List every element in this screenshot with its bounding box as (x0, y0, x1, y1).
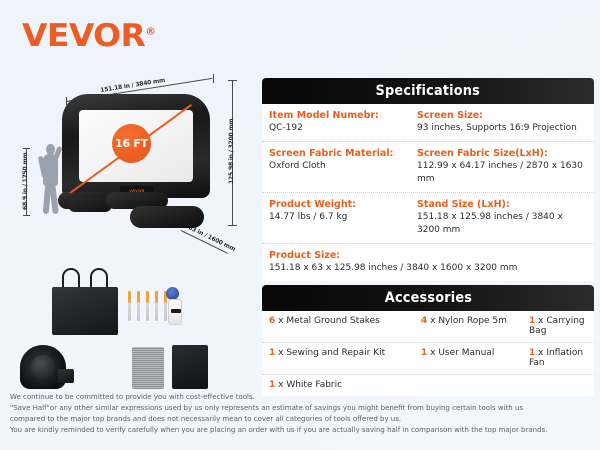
specifications-body: Item Model Numebr: QC-192 Screen Size: 9… (262, 104, 594, 281)
width-dimension-label: 151.18 in / 3840 mm (100, 77, 166, 94)
spec-cell: Screen Fabric Material: Oxford Cloth (269, 147, 417, 186)
spec-value: Oxford Cloth (269, 160, 417, 173)
accessory-sep: x (427, 316, 438, 326)
registered-mark: ® (145, 27, 155, 38)
accessory-item: 1 x Carrying Bag (529, 316, 587, 336)
height-dimension-label: 125.98 in / 3200 mm (228, 119, 235, 184)
accessory-name: Metal Ground Stakes (286, 316, 380, 326)
product-spec-page: VEVOR® 151.18 in / 3840 mm 125.98 in / 3… (0, 0, 600, 450)
accessory-sep: x (427, 348, 438, 358)
accessories-title: Accessories (384, 290, 471, 306)
spec-row: Product Size: 151.18 x 63 x 125.98 inche… (262, 244, 594, 281)
accessory-name: White Fabric (286, 380, 342, 390)
spec-value: 151.18 x 63 x 125.98 inches / 3840 x 160… (269, 262, 587, 275)
carrying-bag-handle-left (62, 268, 80, 288)
white-fabric-photo (172, 345, 208, 389)
spec-label: Stand Size (LxH): (417, 198, 587, 211)
person-tick-bottom (23, 215, 30, 216)
specifications-title: Specifications (376, 83, 480, 99)
accessory-item: 4 x Nylon Rope 5m (421, 316, 529, 336)
spec-row: Item Model Numebr: QC-192 Screen Size: 9… (262, 104, 594, 142)
accessory-sep: x (275, 348, 286, 358)
specifications-header: Specifications (262, 78, 594, 104)
spec-cell: Stand Size (LxH): 151.18 x 125.98 inches… (417, 198, 587, 237)
carrying-bag-handle-right (90, 268, 108, 288)
disclaimer-text: We continue to be committed to provide y… (10, 392, 594, 436)
inflatable-screen: 16 FT VEVOR (62, 94, 217, 234)
manual-label-bar (171, 309, 181, 313)
accessory-sep: x (535, 348, 546, 358)
spec-label: Screen Fabric Size(LxH): (417, 147, 587, 160)
accessory-item: 1 x Sewing and Repair Kit (269, 348, 421, 368)
spec-value: 93 inches, Supports 16:9 Projection (417, 122, 587, 135)
accessory-sep: x (535, 316, 546, 326)
size-badge: 16 FT (112, 124, 151, 163)
ground-stake-3 (146, 291, 149, 321)
disclaimer-line-2: "Save Half"or any other similar expressi… (10, 403, 594, 414)
user-manual-photo (168, 299, 182, 325)
spec-label: Screen Fabric Material: (269, 147, 417, 160)
spec-label: Product Size: (269, 249, 587, 262)
person-tick-top (23, 148, 30, 149)
accessory-name: Sewing and Repair Kit (286, 348, 385, 358)
accessory-item: 6 x Metal Ground Stakes (269, 316, 421, 336)
spec-row: Screen Fabric Material: Oxford Cloth Scr… (262, 142, 594, 193)
ground-stake-2 (137, 291, 140, 321)
accessory-item: 1 x User Manual (421, 348, 529, 368)
spec-label: Product Weight: (269, 198, 417, 211)
brand-name: VEVOR (22, 18, 145, 54)
info-panel: Specifications Item Model Numebr: QC-192… (262, 78, 594, 396)
spec-value: QC-192 (269, 122, 417, 135)
screen-base-right (130, 206, 204, 228)
width-tick-right (213, 74, 214, 83)
disclaimer-line-1: We continue to be committed to provide y… (10, 392, 594, 403)
spec-label: Item Model Numebr: (269, 109, 417, 122)
spec-cell: Item Model Numebr: QC-192 (269, 109, 417, 135)
accessory-photos (0, 265, 258, 390)
fan-outlet (58, 369, 74, 383)
accessory-item: 1 x Inflation Fan (529, 348, 587, 368)
accessories-body: 6 x Metal Ground Stakes 4 x Nylon Rope 5… (262, 311, 594, 396)
spec-cell: Screen Fabric Size(LxH): 112.99 x 64.17 … (417, 147, 587, 186)
accessory-sep: x (275, 380, 286, 390)
disclaimer-line-3: compared to the major top brands and doe… (10, 414, 594, 425)
accessory-row: 1 x Sewing and Repair Kit 1 x User Manua… (262, 343, 594, 375)
accessory-name: User Manual (438, 348, 494, 358)
spec-row: Product Weight: 14.77 lbs / 6.7 kg Stand… (262, 193, 594, 244)
accessory-sep: x (275, 316, 286, 326)
accessory-item: 1 x White Fabric (269, 380, 421, 390)
product-illustration: 151.18 in / 3840 mm 125.98 in / 3200 mm … (0, 72, 258, 272)
ground-stake-1 (128, 291, 131, 321)
spec-cell: Product Size: 151.18 x 63 x 125.98 inche… (269, 249, 587, 275)
spec-cell: Screen Size: 93 inches, Supports 16:9 Pr… (417, 109, 587, 135)
ground-stake-4 (155, 291, 158, 321)
disclaimer-line-4: You are kindly reminded to verify carefu… (10, 425, 594, 436)
height-tick-top (228, 80, 237, 81)
height-tick-bottom (228, 225, 237, 226)
spec-cell: Product Weight: 14.77 lbs / 6.7 kg (269, 198, 417, 237)
spec-value: 151.18 x 125.98 inches / 3840 x 3200 mm (417, 211, 587, 237)
carrying-bag-photo (52, 287, 118, 335)
person-height-label: 68.9 in / 1750 mm (22, 153, 29, 210)
vevor-logo: VEVOR® (22, 18, 155, 54)
accessory-row: 6 x Metal Ground Stakes 4 x Nylon Rope 5… (262, 311, 594, 343)
repair-kit-photo (132, 347, 164, 389)
spec-value: 14.77 lbs / 6.7 kg (269, 211, 417, 224)
spec-label: Screen Size: (417, 109, 587, 122)
spec-value: 112.99 x 64.17 inches / 2870 x 1630 mm (417, 160, 587, 186)
accessory-name: Nylon Rope 5m (438, 316, 507, 326)
accessories-header: Accessories (262, 285, 594, 311)
